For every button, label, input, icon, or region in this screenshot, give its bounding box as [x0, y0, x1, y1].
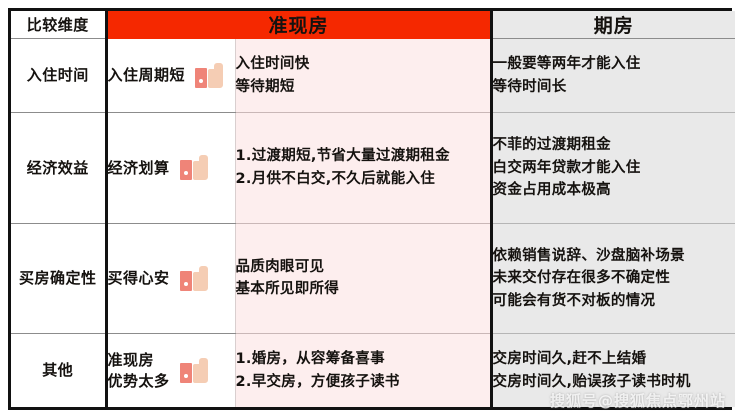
row-con-detail: 依赖销售说辞、沙盘脑补场景 未来交付存在很多不确定性 可能会有货不对板的情况	[491, 223, 735, 333]
row-pro-label-cell: 准现房 优势太多	[106, 334, 235, 407]
thumbs-up-icon	[180, 266, 208, 291]
header-dimension: 比较维度	[11, 11, 106, 39]
header-con: 期房	[491, 11, 735, 39]
row-pro-label-cell: 经济划算	[106, 113, 235, 223]
row-pro-label: 经济划算	[108, 158, 170, 178]
thumb-cuff	[180, 271, 192, 291]
thumbs-up-icon	[180, 155, 208, 180]
thumb-cuff-dot	[184, 374, 188, 378]
thumb-finger	[199, 266, 208, 276]
row-dimension: 其他	[11, 334, 106, 407]
row-pro-detail: 入住时间快 等待期短	[235, 39, 491, 113]
table-row: 其他 准现房 优势太多 1.婚房，从容筹备喜事 2.早交房，	[11, 334, 735, 407]
thumbs-up-icon	[180, 358, 208, 383]
table-row: 入住时间 入住周期短 入住时间快 等待期短	[11, 39, 735, 113]
row-con-detail: 交房时间久,赶不上结婚 交房时间久,贻误孩子读书时机	[491, 334, 735, 407]
row-pro-detail: 1.婚房，从容筹备喜事 2.早交房，方便孩子读书	[235, 334, 491, 407]
table-row: 买房确定性 买得心安 品质肉眼可见 基本所见即所得	[11, 223, 735, 333]
row-pro-label: 准现房 优势太多	[108, 350, 170, 391]
thumb-cuff	[195, 68, 207, 88]
table-row: 经济效益 经济划算 1.过渡期短,节省大量过渡期租金 2.月	[11, 113, 735, 223]
row-dimension: 买房确定性	[11, 223, 106, 333]
thumb-finger	[214, 63, 223, 73]
header-pro: 准现房	[106, 11, 491, 39]
thumb-finger	[199, 155, 208, 165]
comparison-infographic: 比较维度 准现房 期房 入住时间 入住周期短	[0, 0, 740, 417]
row-con-detail: 不菲的过渡期租金 白交两年贷款才能入住 资金占用成本极高	[491, 113, 735, 223]
row-pro-label: 买得心安	[108, 268, 170, 288]
thumbs-up-icon	[195, 63, 223, 88]
row-pro-label-cell: 入住周期短	[106, 39, 235, 113]
thumb-cuff	[180, 160, 192, 180]
comparison-table: 比较维度 准现房 期房 入住时间 入住周期短	[11, 11, 735, 407]
row-dimension: 经济效益	[11, 113, 106, 223]
thumb-cuff-dot	[184, 282, 188, 286]
row-pro-detail: 1.过渡期短,节省大量过渡期租金 2.月供不白交,不久后就能入住	[235, 113, 491, 223]
row-pro-label: 入住周期短	[108, 65, 186, 85]
row-pro-label-cell: 买得心安	[106, 223, 235, 333]
thumb-finger	[199, 358, 208, 368]
row-pro-detail: 品质肉眼可见 基本所见即所得	[235, 223, 491, 333]
row-dimension: 入住时间	[11, 39, 106, 113]
thumb-cuff	[180, 363, 192, 383]
row-con-detail: 一般要等两年才能入住 等待时间长	[491, 39, 735, 113]
table-header-row: 比较维度 准现房 期房	[11, 11, 735, 39]
comparison-table-wrapper: 比较维度 准现房 期房 入住时间 入住周期短	[8, 8, 732, 410]
